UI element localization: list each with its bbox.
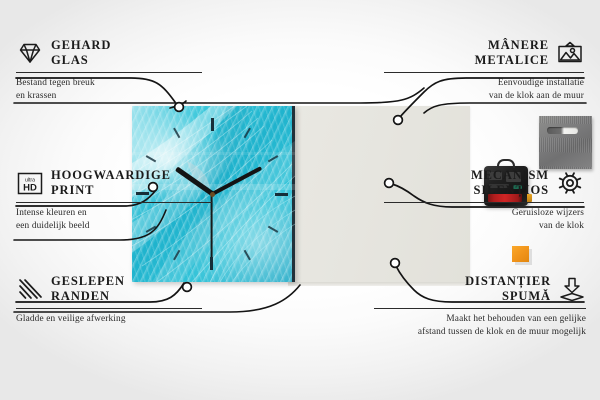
callout-rule [16,72,202,74]
infographic-canvas: GEHARD GLAS Bestand tegen breuk en krass… [0,0,600,400]
callout-title-row: GESLEPEN RANDEN [16,274,216,305]
metal-hanger-plate [539,116,592,169]
callout-desc: Intense kleuren en een duidelijk beeld [16,207,226,233]
callout-hoogwaardige-print: ultra HD HOOGWAARDIGE PRINT Intense kleu… [16,168,226,233]
callout-desc: Gladde en veilige afwerking [16,313,216,326]
spacer-arrow-icon [558,276,586,302]
callout-rule [16,202,212,204]
callout-desc: Maakt het behouden van een gelijke afsta… [374,313,586,339]
callout-title: GEHARD GLAS [51,38,111,69]
callout-title-row: GEHARD GLAS [16,38,216,69]
callout-title-row: MÂNERE METALICE [384,38,584,69]
callout-rule [374,308,586,310]
callout-manere-metalice: MÂNERE METALICE Eenvoudige installatie v… [384,38,584,103]
svg-text:HD: HD [23,182,37,193]
callout-gehard-glas: GEHARD GLAS Bestand tegen breuk en krass… [16,38,216,103]
keyhole-slot [547,127,578,134]
diamond-icon [16,40,44,66]
callout-rule [384,72,584,74]
callout-distantier-spuma: DISTANȚIER SPUMĂ Maakt het behouden van … [374,274,586,339]
callout-geslepen-randen: GESLEPEN RANDEN Gladde en veilige afwerk… [16,274,216,326]
callout-title-row: ultra HD HOOGWAARDIGE PRINT [16,168,226,199]
callout-mecanism-silentios: MECANISM SILENȚIOS Geruisloze wijzers va… [384,168,584,233]
callout-title: HOOGWAARDIGE PRINT [51,168,171,199]
callout-desc: Bestand tegen breuk en krassen [16,77,216,103]
callout-title: MÂNERE METALICE [475,38,549,69]
ultra-hd-icon: ultra HD [16,170,44,196]
bevelled-edge-icon [16,276,44,302]
callout-desc: Geruisloze wijzers van de klok [384,207,584,233]
callout-rule [384,202,584,204]
callout-title: MECANISM SILENȚIOS [471,168,549,199]
gear-icon [556,170,584,196]
callout-title-row: DISTANȚIER SPUMĂ [374,274,586,305]
callout-title-row: MECANISM SILENȚIOS [384,168,584,199]
mechanism-hook-icon [497,159,515,168]
callout-title: DISTANȚIER SPUMĂ [465,274,551,305]
callout-rule [16,308,202,310]
picture-frame-hanger-icon [556,40,584,66]
callout-title: GESLEPEN RANDEN [51,274,125,305]
callout-desc: Eenvoudige installatie van de klok aan d… [384,77,584,103]
foam-spacer [512,246,529,262]
